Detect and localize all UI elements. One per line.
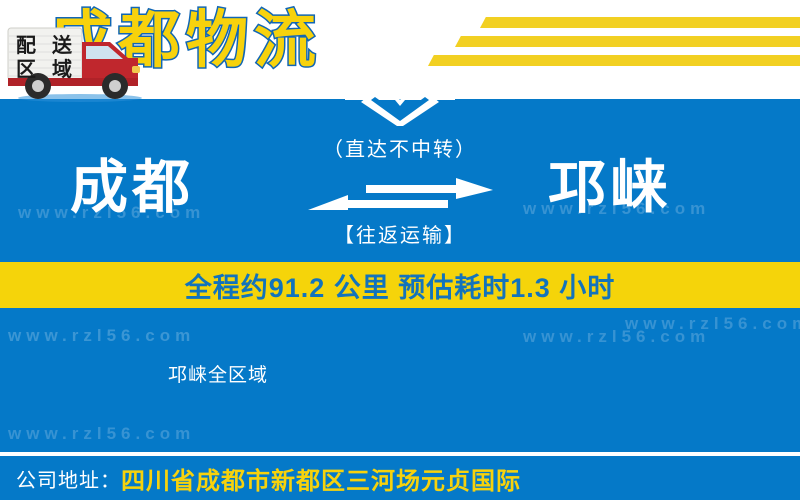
decorative-stripes xyxy=(420,14,800,76)
bidirectional-arrow-icon xyxy=(308,177,493,217)
roundtrip-note: 【往返运输】 xyxy=(285,223,515,249)
truck-char-1: 配 xyxy=(16,33,36,57)
route-middle: （直达不中转） 【往返运输】 xyxy=(285,137,515,257)
destination-city: 邛崃 xyxy=(548,153,672,223)
company-address-bar: 公司地址： 四川省成都市新都区三河场元贞国际 xyxy=(0,456,800,500)
distance-duration-bar: 全程约91.2 公里 预估耗时1.3 小时 xyxy=(0,262,800,308)
truck-char-2: 送 xyxy=(52,33,73,57)
delivery-area-row xyxy=(0,308,800,438)
metrics-summary: 全程约91.2 公里 预估耗时1.3 小时 xyxy=(185,266,616,305)
stripe-3 xyxy=(428,55,800,66)
logistics-banner: 成都物流 成都 邛崃 （直达不中转） 【往返运输】 www.rzl56.com … xyxy=(0,0,800,500)
address-value: 四川省成都市新都区三河场元贞国际 xyxy=(121,461,521,496)
truck-char-3: 区 xyxy=(16,57,36,81)
stripe-1 xyxy=(480,17,800,28)
address-label: 公司地址： xyxy=(16,464,121,493)
truck-char-4: 域 xyxy=(52,57,72,81)
delivery-truck-icon: 配 送 区 域 xyxy=(6,22,154,104)
route-panel: 成都 邛崃 （直达不中转） 【往返运输】 www.rzl56.com www.r… xyxy=(0,95,800,260)
stripe-2 xyxy=(455,36,800,47)
origin-city: 成都 xyxy=(70,153,194,223)
coverage-label: 邛崃全区域 xyxy=(168,360,268,387)
direct-note: （直达不中转） xyxy=(285,137,515,163)
chevron-down-icon xyxy=(345,94,455,126)
